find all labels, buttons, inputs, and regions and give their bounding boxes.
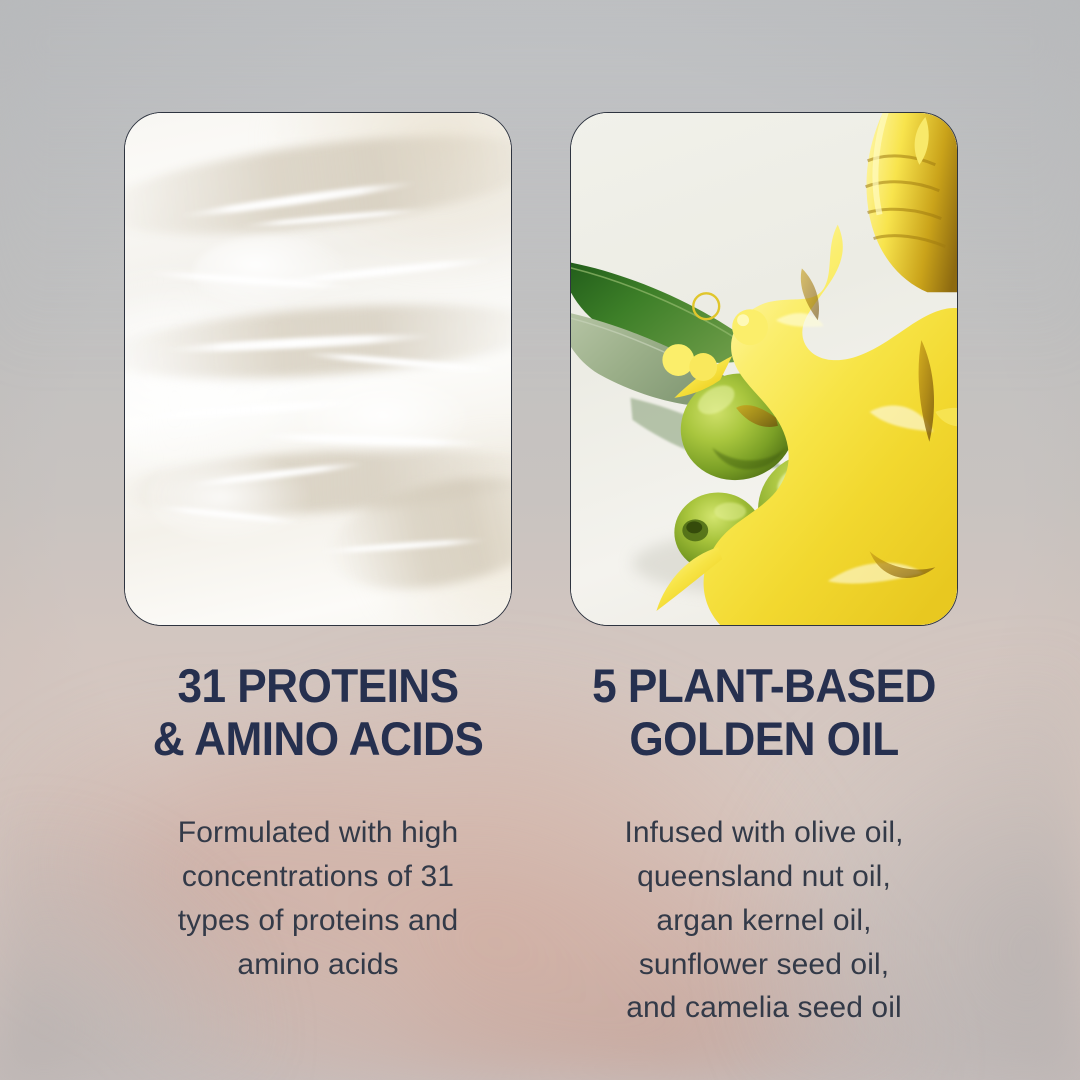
olive-lower-left-highlight xyxy=(714,502,746,520)
cream-texture-card xyxy=(124,112,512,626)
product-benefits-graphic: 31 PROTEINS & AMINO ACIDS Formulated wit… xyxy=(0,0,1080,1080)
benefit-column-proteins: 31 PROTEINS & AMINO ACIDS Formulated wit… xyxy=(124,660,512,1030)
golden-oil-headline: 5 PLANT-BASED GOLDEN OIL xyxy=(582,660,947,765)
oil-droplet-large-highlight xyxy=(737,314,749,326)
image-card-row xyxy=(124,112,958,626)
proteins-description: Formulated with high concentrations of 3… xyxy=(124,811,512,986)
olive-oil-splash-image xyxy=(571,113,957,625)
oil-illustration xyxy=(571,113,957,625)
oil-droplet-mid xyxy=(662,344,694,376)
cream-swirl-2 xyxy=(295,379,473,461)
cream-texture-image xyxy=(125,113,511,625)
benefit-column-golden-oil: 5 PLANT-BASED GOLDEN OIL Infused with ol… xyxy=(570,660,958,1030)
cream-swirl-3 xyxy=(148,451,310,543)
oil-droplet-mid-2 xyxy=(689,353,717,381)
benefit-text-row: 31 PROTEINS & AMINO ACIDS Formulated wit… xyxy=(124,660,958,1030)
olive-pit-hole-inner xyxy=(686,521,702,533)
proteins-headline: 31 PROTEINS & AMINO ACIDS xyxy=(136,660,501,765)
olive-oil-card xyxy=(570,112,958,626)
oil-droplet-large xyxy=(732,309,768,345)
cream-swirl-1 xyxy=(194,236,348,308)
golden-oil-description: Infused with olive oil, queensland nut o… xyxy=(570,811,958,1030)
